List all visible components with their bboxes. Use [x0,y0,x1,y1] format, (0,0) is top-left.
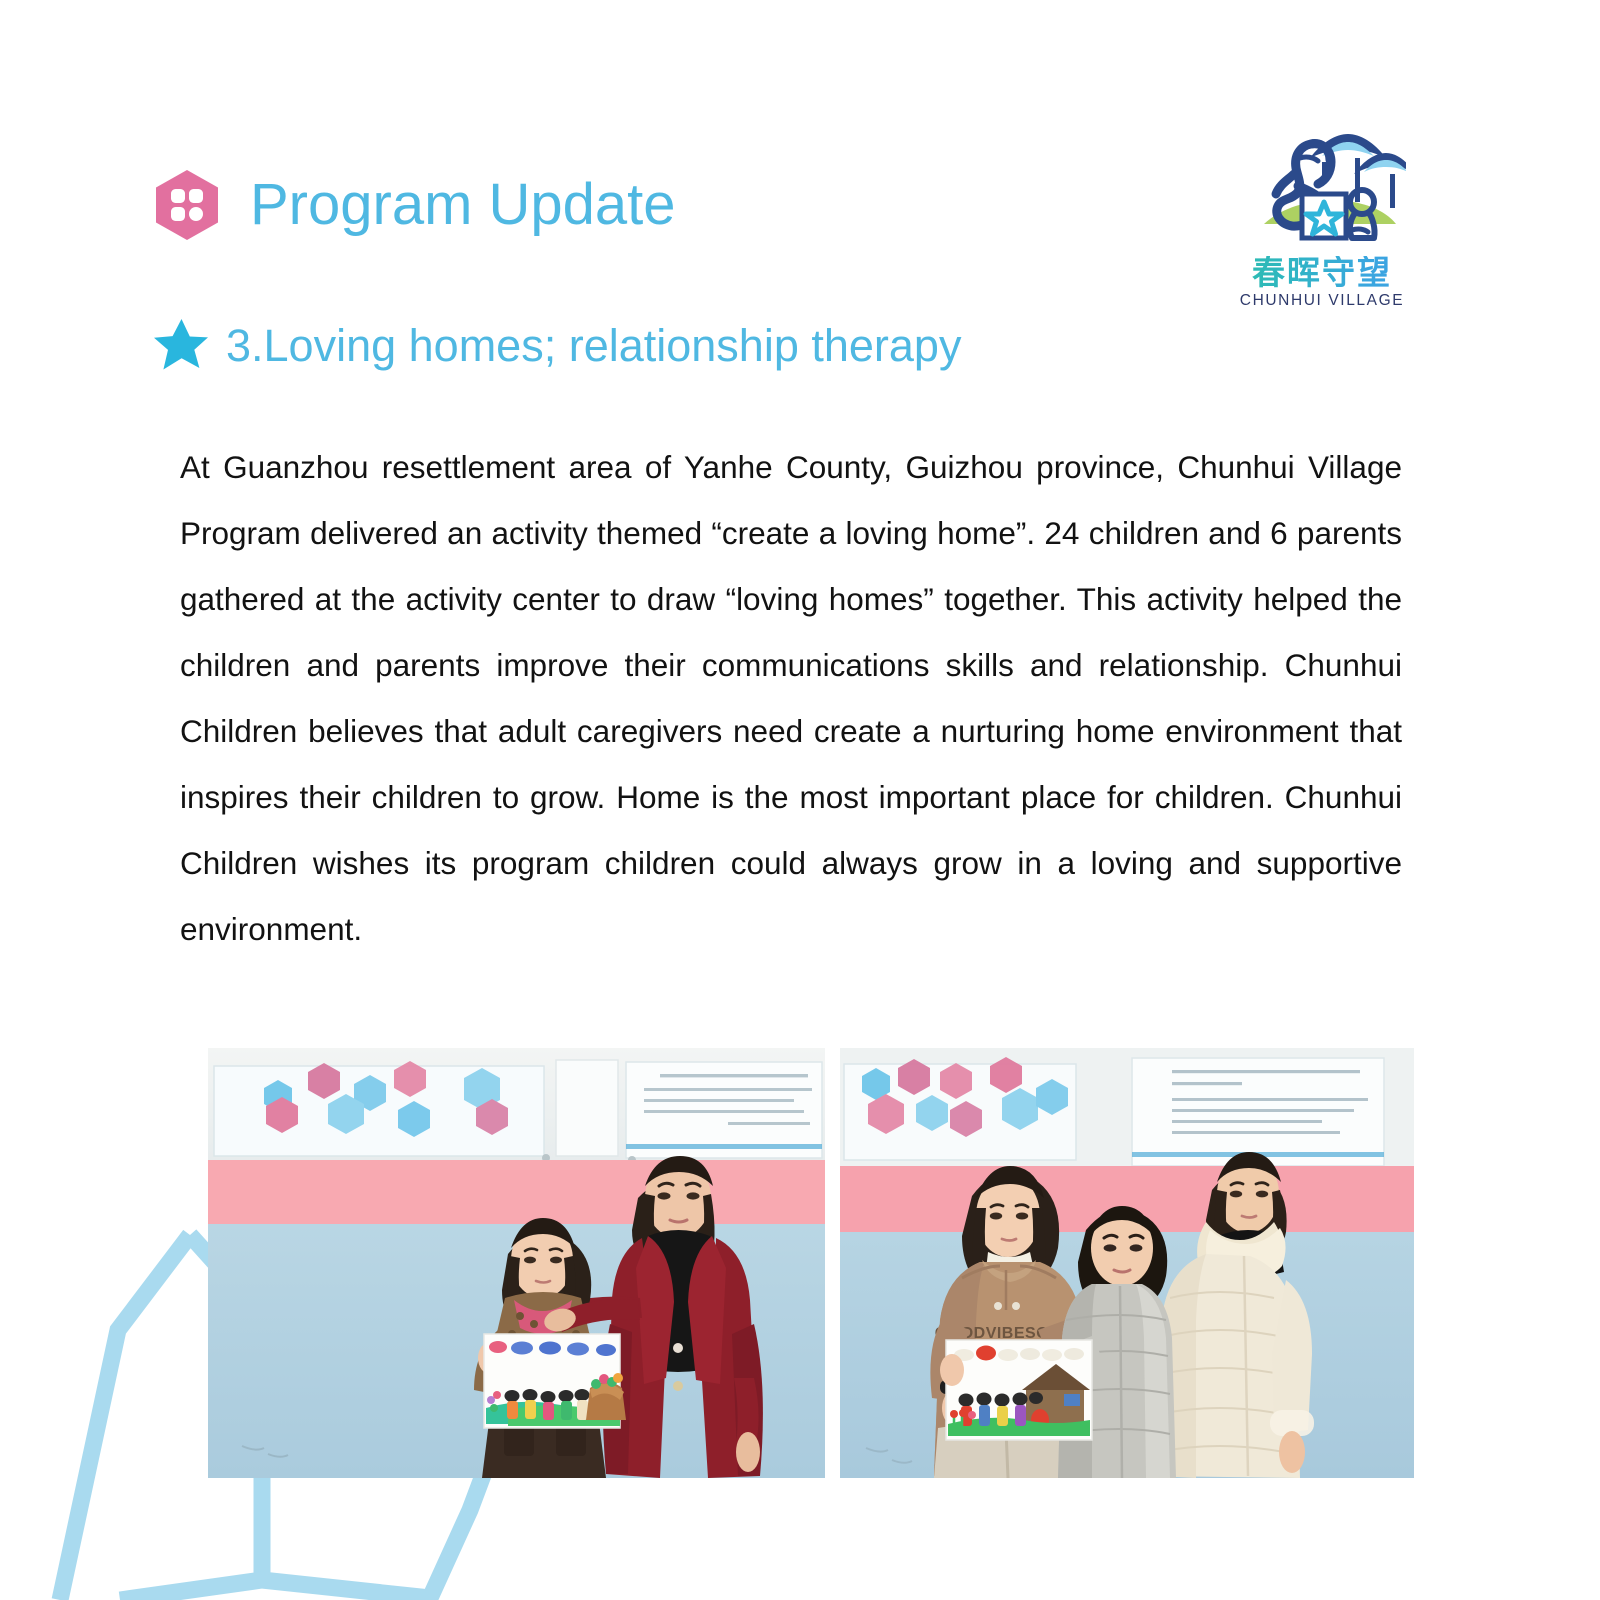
star-icon [152,316,210,374]
photo-row: GOODVIBESONLY BE HAPPY SOUTH [0,1048,1600,1480]
chunhui-village-logo: 春晖守望 CHUNHUI VILLAGE [1222,112,1422,310]
body-text: At Guanzhou resettlement area of Yanhe C… [180,434,1402,962]
grid-hexagon-icon [150,168,224,242]
photo-two-children-with-parent: GOODVIBESONLY BE HAPPY SOUTH [840,1048,1414,1478]
section-title: 3.Loving homes; relationship therapy [226,323,961,368]
page-title: Program Update [250,176,676,234]
page-header: Program Update [150,168,676,242]
section-heading: 3.Loving homes; relationship therapy [152,316,961,374]
logo-english-name: CHUNHUI VILLAGE [1222,292,1422,310]
logo-chinese-name: 春晖守望 [1222,256,1422,291]
chunhui-village-logo-icon [1238,112,1406,254]
body-paragraph: At Guanzhou resettlement area of Yanhe C… [180,434,1402,962]
photo-girl-with-teacher [208,1048,825,1478]
